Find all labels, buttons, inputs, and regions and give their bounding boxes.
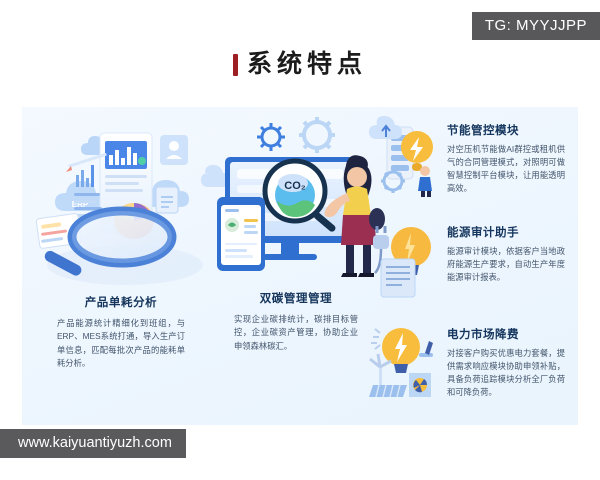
doc-icon — [156, 187, 178, 213]
magnifier-dashboard-analytics-illustration: ERP MES — [30, 115, 212, 297]
monitor-co2-globe-illustration: CO₂ — [207, 115, 385, 293]
column-title: 双碳管理管理 — [207, 293, 385, 307]
microscope-icon — [419, 341, 433, 357]
column-title: 产品单耗分析 — [30, 297, 212, 311]
page-title-text: 系统特点 — [247, 52, 367, 77]
feature-body: 对空压机节能做AI群控或租机供气的合同管理模式，对照明可做智慧控制平台模块，让用… — [447, 143, 565, 195]
feature-row-power-market: 电力市场降费 对接客户购买优惠电力套餐，提供需求响应模块协助申领补贴，具备负荷追… — [367, 315, 575, 409]
page-title: 系统特点 — [0, 52, 600, 81]
solar-panel-icon — [369, 385, 407, 397]
feature-body: 对接客户购买优惠电力套餐，提供需求响应模块协助申领补贴，具备负荷追踪模块分析全厂… — [447, 347, 565, 399]
features-card: ERP MES — [22, 107, 578, 425]
feature-row-energy-control: 节能管控模块 对空压机节能做AI群控或租机供气的合同管理模式，对照明可做智慧控制… — [367, 111, 575, 205]
watermark-badge: www.kaiyuantiyuzh.com — [0, 429, 186, 459]
feature-title: 节能管控模块 — [447, 125, 575, 139]
feature-title: 电力市场降费 — [447, 329, 575, 343]
phone-icon — [217, 197, 265, 271]
tg-badge: TG: MYYJJPP — [472, 12, 600, 40]
feature-body: 能源审计模块，依据客户当地政府能源生产要求，自动生产年度能源审计报表。 — [447, 245, 565, 284]
bulb-turbine-solar-nuclear-icon — [367, 315, 439, 401]
column-body: 产品能源统计精细化到班组，与ERP、MES系统打通，导入生产订单信息，匹配每批次… — [57, 317, 185, 371]
column-carbon-management: CO₂ — [207, 115, 385, 415]
document-icon — [381, 259, 415, 297]
title-accent-bar — [233, 54, 238, 76]
feature-title: 能源审计助手 — [447, 227, 575, 241]
user-card-icon — [160, 135, 188, 165]
column-product-analysis: ERP MES — [30, 115, 212, 415]
person-small — [418, 166, 432, 197]
rays-icon — [371, 329, 380, 349]
feature-row-energy-audit: 能源审计助手 能源审计模块，依据客户当地政府能源生产要求，自动生产年度能源审计报… — [367, 213, 575, 307]
gear-icon-large — [299, 117, 335, 153]
cloud-server-bulb-icon — [367, 111, 439, 197]
column-body: 实现企业碳排统计，碳排目标管控，企业碳资产管理，协助企业申领森林碳汇。 — [234, 313, 358, 353]
nuclear-plant-icon — [409, 373, 431, 397]
co2-label: CO₂ — [284, 180, 306, 192]
plug-bulb-document-icon — [367, 213, 439, 299]
gear-icon — [257, 123, 285, 151]
column-feature-list: 节能管控模块 对空压机节能做AI群控或租机供气的合同管理模式，对照明可做智慧控制… — [367, 111, 575, 421]
